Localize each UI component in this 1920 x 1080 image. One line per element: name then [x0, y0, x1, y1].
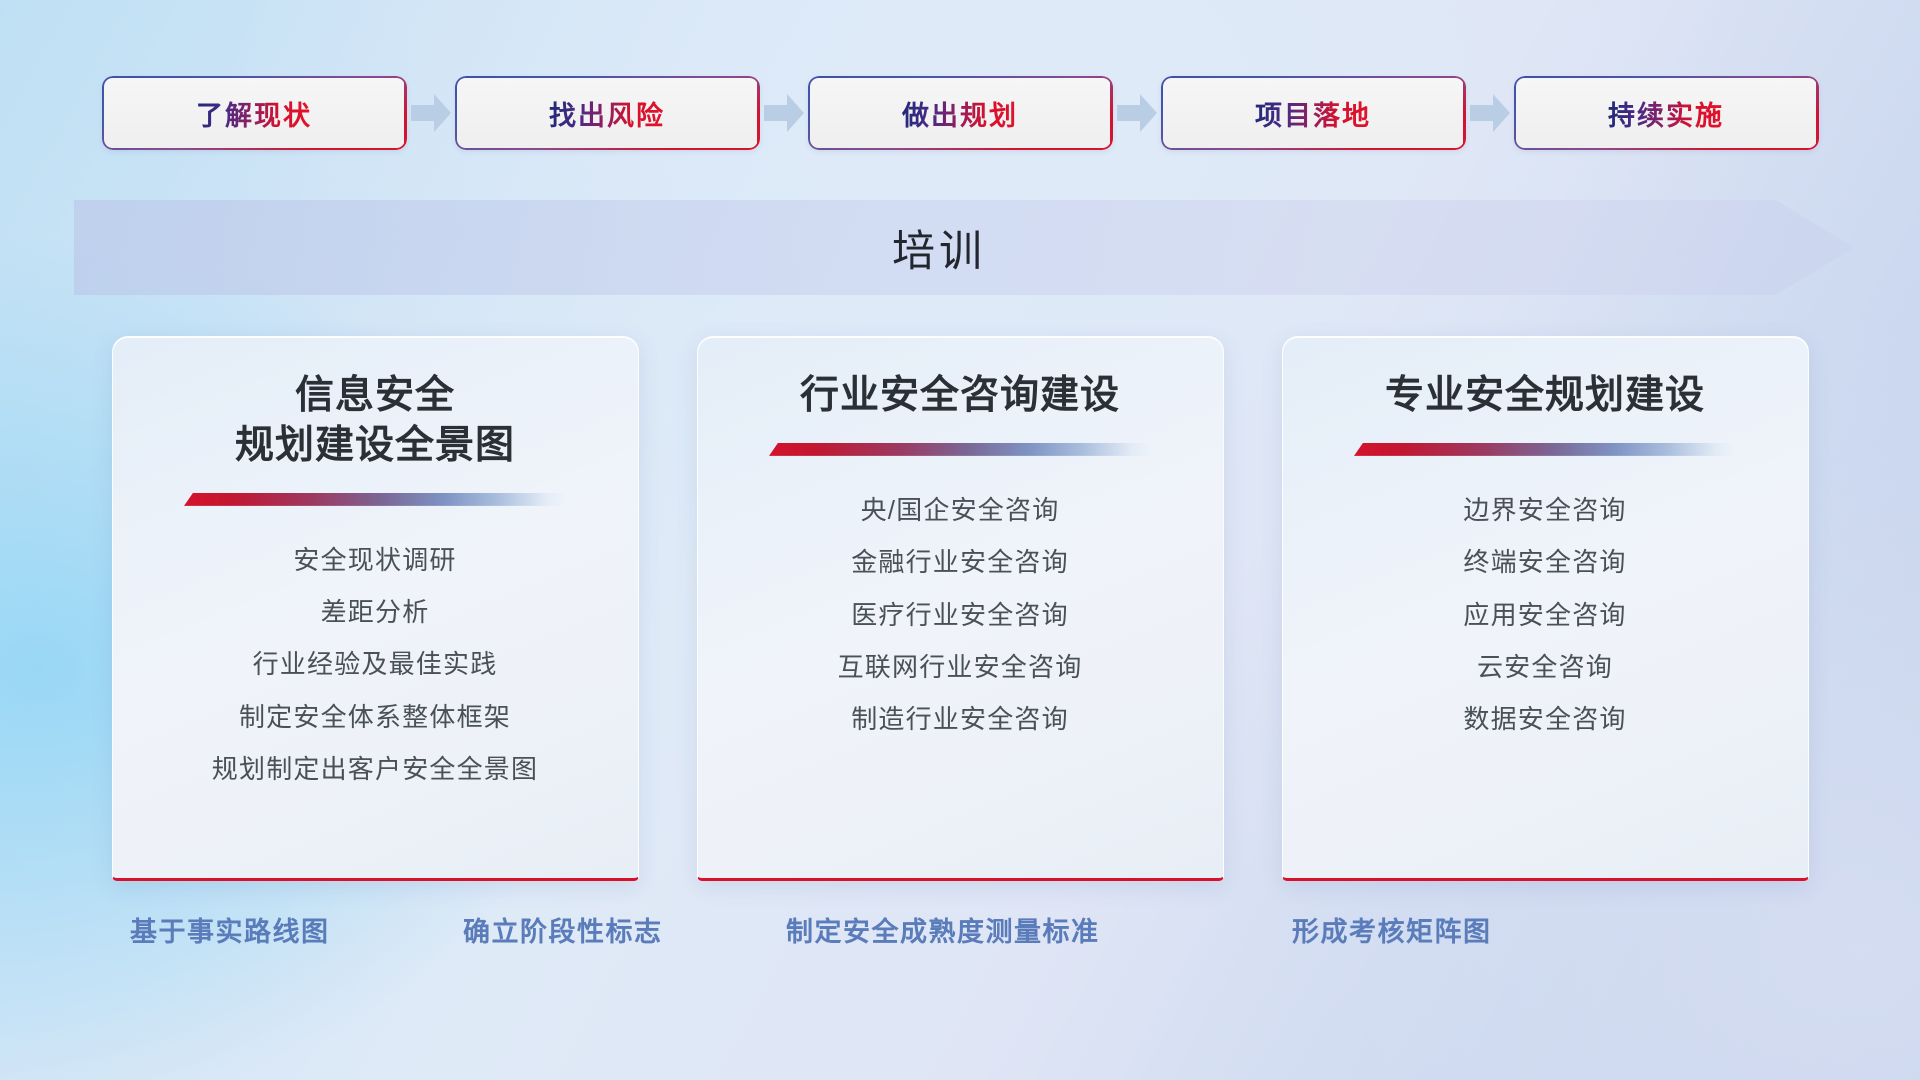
card-accent-divider	[184, 493, 566, 506]
card-item-list: 安全现状调研 差距分析 行业经验及最佳实践 制定安全体系整体框架 规划制定出客户…	[212, 540, 538, 789]
list-item: 边界安全咨询	[1463, 490, 1626, 530]
card-1[interactable]: 行业安全咨询建设 央/国企安全咨询 金融行业安全咨询 医疗行业安全咨询 互联网行…	[697, 336, 1224, 881]
step-label: 项目落地	[1255, 94, 1371, 133]
captions-row: 基于事实路线图 确立阶段性标志 制定安全成熟度测量标准 形成考核矩阵图	[0, 910, 1920, 970]
card-2[interactable]: 专业安全规划建设 边界安全咨询 终端安全咨询 应用安全咨询 云安全咨询 数据安全…	[1282, 336, 1809, 881]
step-box-0[interactable]: 了解现状	[102, 76, 407, 150]
card-title-line1: 信息安全	[295, 374, 455, 417]
step-arrow-separator-0	[407, 72, 455, 154]
list-item: 终端安全咨询	[1463, 542, 1626, 582]
list-item: 央/国企安全咨询	[861, 490, 1060, 530]
card-accent-divider	[769, 443, 1151, 456]
step-label: 了解现状	[196, 94, 312, 133]
card-title-line2: 规划建设全景图	[235, 424, 515, 467]
card-title-line1: 行业安全咨询建设	[800, 371, 1120, 421]
card-0[interactable]: 信息安全 规划建设全景图 安全现状调研 差距分析 行业经验及最佳实践 制定安全体…	[112, 336, 639, 881]
card-title: 行业安全咨询建设	[800, 371, 1120, 421]
caption-0: 基于事实路线图	[130, 910, 330, 949]
caption-1: 确立阶段性标志	[463, 910, 663, 949]
card-title: 信息安全 规划建设全景图	[235, 371, 515, 471]
process-steps-row: 了解现状 找出风险 做出规划 项目落地 持续实施	[0, 72, 1920, 154]
step-arrow-separator-3	[1466, 72, 1514, 154]
list-item: 制定安全体系整体框架	[239, 697, 511, 737]
step-box-3[interactable]: 项目落地	[1161, 76, 1466, 150]
step-label: 持续实施	[1608, 94, 1724, 133]
list-item: 应用安全咨询	[1463, 595, 1626, 635]
list-item: 差距分析	[321, 592, 430, 632]
list-item: 医疗行业安全咨询	[851, 595, 1069, 635]
list-item: 互联网行业安全咨询	[838, 647, 1083, 687]
list-item: 规划制定出客户安全全景图	[212, 749, 538, 789]
list-item: 安全现状调研	[293, 540, 456, 580]
training-banner: 培训	[74, 200, 1854, 295]
card-item-list: 央/国企安全咨询 金融行业安全咨询 医疗行业安全咨询 互联网行业安全咨询 制造行…	[838, 490, 1083, 739]
card-title-line1: 专业安全规划建设	[1385, 371, 1705, 421]
caption-3: 形成考核矩阵图	[1292, 910, 1492, 949]
caption-2: 制定安全成熟度测量标准	[786, 910, 1100, 949]
list-item: 金融行业安全咨询	[851, 542, 1069, 582]
step-box-2[interactable]: 做出规划	[808, 76, 1113, 150]
step-arrow-separator-2	[1113, 72, 1161, 154]
chevron-right-arrow-icon	[410, 93, 452, 133]
step-label: 做出规划	[902, 94, 1018, 133]
list-item: 制造行业安全咨询	[851, 699, 1069, 739]
step-arrow-separator-1	[760, 72, 808, 154]
chevron-right-arrow-icon	[1469, 93, 1511, 133]
list-item: 行业经验及最佳实践	[253, 644, 498, 684]
list-item: 数据安全咨询	[1463, 699, 1626, 739]
list-item: 云安全咨询	[1477, 647, 1613, 687]
step-label: 找出风险	[549, 94, 665, 133]
chevron-right-arrow-icon	[763, 93, 805, 133]
card-accent-divider	[1354, 443, 1736, 456]
chevron-right-arrow-icon	[1116, 93, 1158, 133]
card-item-list: 边界安全咨询 终端安全咨询 应用安全咨询 云安全咨询 数据安全咨询	[1463, 490, 1626, 739]
card-title: 专业安全规划建设	[1385, 371, 1705, 421]
step-box-1[interactable]: 找出风险	[455, 76, 760, 150]
banner-title: 培训	[74, 200, 1854, 295]
cards-row: 信息安全 规划建设全景图 安全现状调研 差距分析 行业经验及最佳实践 制定安全体…	[0, 336, 1920, 881]
step-box-4[interactable]: 持续实施	[1514, 76, 1819, 150]
